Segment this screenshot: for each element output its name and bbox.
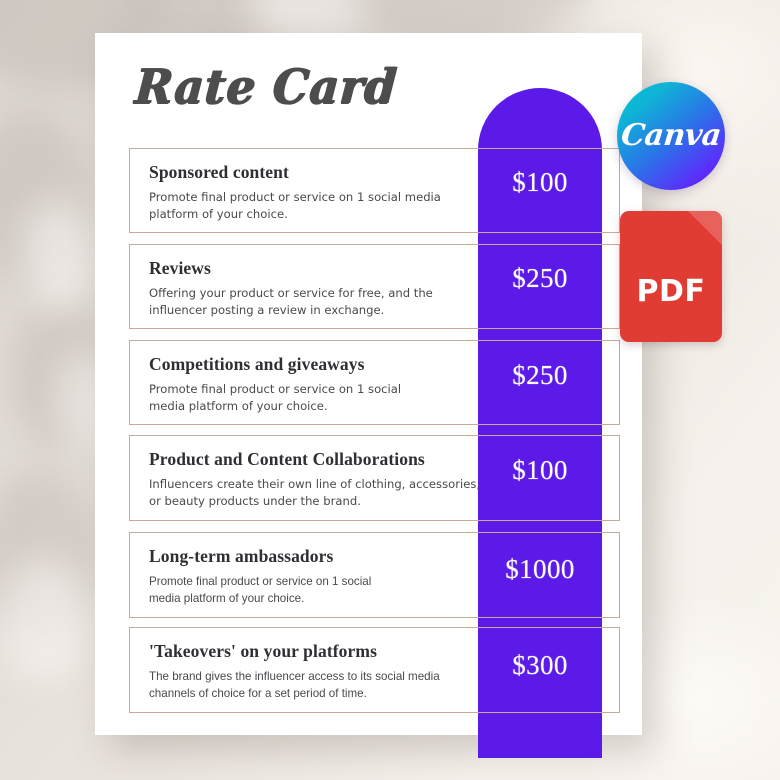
row-text-block: 'Takeovers' on your platforms The brand … bbox=[149, 641, 489, 702]
row-text-block: Reviews Offering your product or service… bbox=[149, 258, 489, 319]
row-title: Sponsored content bbox=[149, 162, 489, 183]
rate-rows-container: Sponsored content Promote final product … bbox=[95, 33, 642, 735]
row-title: Competitions and giveaways bbox=[149, 354, 489, 375]
pdf-file-icon[interactable]: PDF bbox=[620, 211, 722, 342]
row-text-block: Sponsored content Promote final product … bbox=[149, 162, 489, 223]
row-description: The brand gives the influencer access to… bbox=[149, 668, 489, 702]
row-description: Promote final product or service on 1 so… bbox=[149, 189, 489, 223]
row-title: Product and Content Collaborations bbox=[149, 449, 509, 470]
row-title: 'Takeovers' on your platforms bbox=[149, 641, 489, 662]
pdf-label: PDF bbox=[620, 274, 722, 309]
row-price: $100 bbox=[478, 455, 602, 486]
row-text-block: Product and Content Collaborations Influ… bbox=[149, 449, 509, 510]
row-text-block: Competitions and giveaways Promote final… bbox=[149, 354, 489, 415]
row-title: Reviews bbox=[149, 258, 489, 279]
row-description: Offering your product or service for fre… bbox=[149, 285, 489, 319]
row-price: $250 bbox=[478, 360, 602, 391]
row-price: $100 bbox=[478, 167, 602, 198]
leaf-highlight-blob bbox=[22, 200, 92, 310]
row-price: $250 bbox=[478, 263, 602, 294]
row-price: $1000 bbox=[478, 554, 602, 585]
row-title: Long-term ambassadors bbox=[149, 546, 489, 567]
row-description: Promote final product or service on 1 so… bbox=[149, 381, 489, 415]
leaf-highlight-blob bbox=[0, 560, 90, 680]
row-description: Influencers create their own line of clo… bbox=[149, 476, 509, 510]
canva-logo-icon[interactable]: Canva bbox=[617, 82, 725, 190]
canva-wordmark: Canva bbox=[611, 81, 730, 189]
row-price: $300 bbox=[478, 650, 602, 681]
rate-card-document: Rate Card Sponsored content Promote fina… bbox=[95, 33, 642, 735]
row-text-block: Long-term ambassadors Promote final prod… bbox=[149, 546, 489, 607]
row-description: Promote final product or service on 1 so… bbox=[149, 573, 489, 607]
